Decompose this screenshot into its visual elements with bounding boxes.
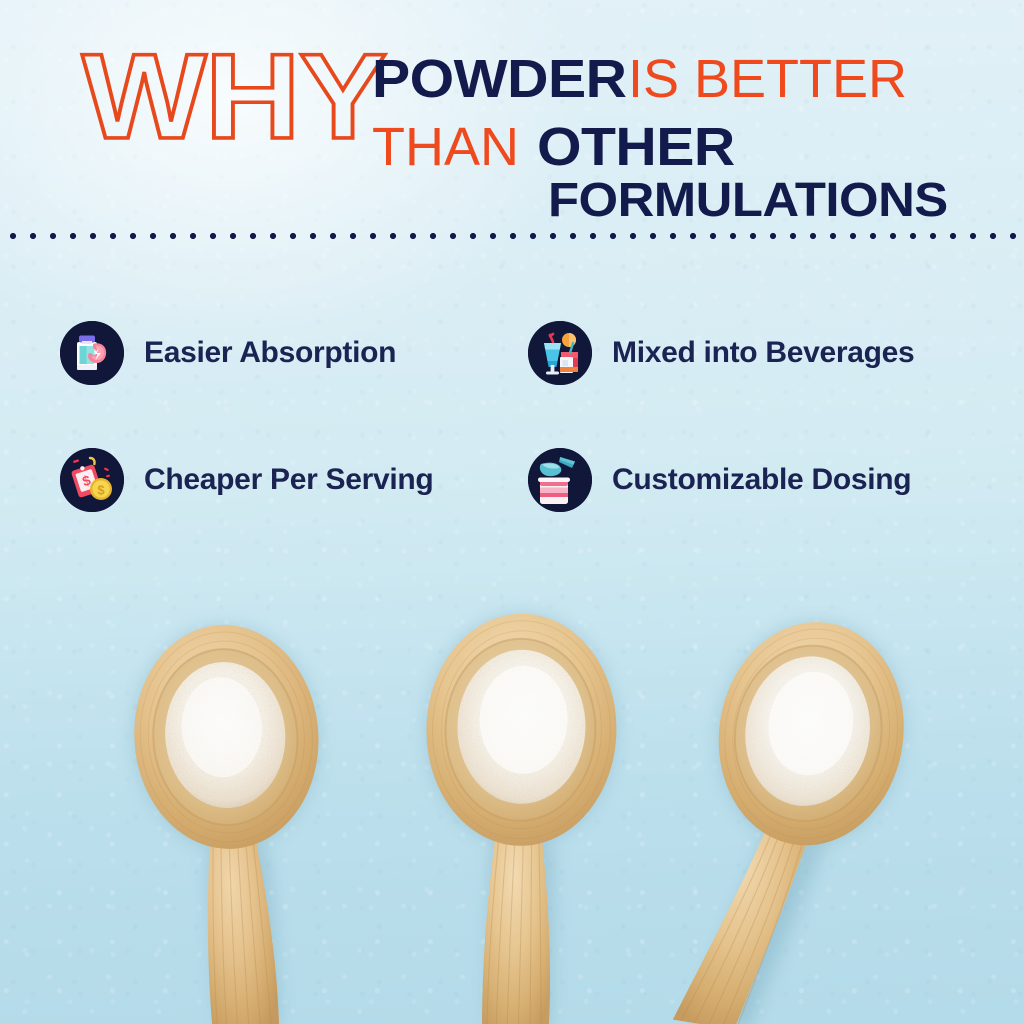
headline-why-word: WHY [82,36,386,157]
dotted-divider [0,231,1024,241]
headline-line-2: THANOTHER [372,120,724,174]
feature-label: Cheaper Per Serving [144,463,433,497]
headline-other: OTHER [537,120,735,174]
wooden-spoon-right [657,592,961,1024]
headline-than: THAN [372,120,519,174]
feature-list: Easier Absorption [0,300,1024,550]
supplement-bottle-stomach-icon [60,321,124,385]
feature-label: Customizable Dosing [612,463,911,497]
feature-item-cheaper-per-serving[interactable]: $ $ Cheaper Per Serving [60,445,433,515]
feature-label: Mixed into Beverages [612,336,914,370]
wooden-spoon-left [118,600,377,1024]
price-tag-coin-icon: $ $ [60,448,124,512]
wooden-spoon-center [414,598,652,1024]
feature-label: Easier Absorption [144,336,396,370]
infographic-canvas: WHY POWDERIS BETTER THANOTHER FORMULATIO… [0,0,1024,1024]
headline-is-better: IS BETTER [628,52,907,106]
headline-formulations: FORMULATIONS [548,177,948,225]
headline-line-3: FORMULATIONS [548,177,925,225]
feature-item-easier-absorption[interactable]: Easier Absorption [60,318,396,388]
feature-item-customizable-dosing[interactable]: Customizable Dosing [528,445,911,515]
headline-block: WHY POWDERIS BETTER THANOTHER FORMULATIO… [0,0,1024,236]
scoop-container-icon [528,448,592,512]
feature-item-mixed-into-beverages[interactable]: Mixed into Beverages [528,318,914,388]
cocktail-glasses-icon [528,321,592,385]
headline-line-1: POWDERIS BETTER [372,52,907,106]
headline-powder: POWDER [372,52,626,106]
spoons-photo [0,560,1024,1024]
svg-text:$: $ [97,482,105,497]
